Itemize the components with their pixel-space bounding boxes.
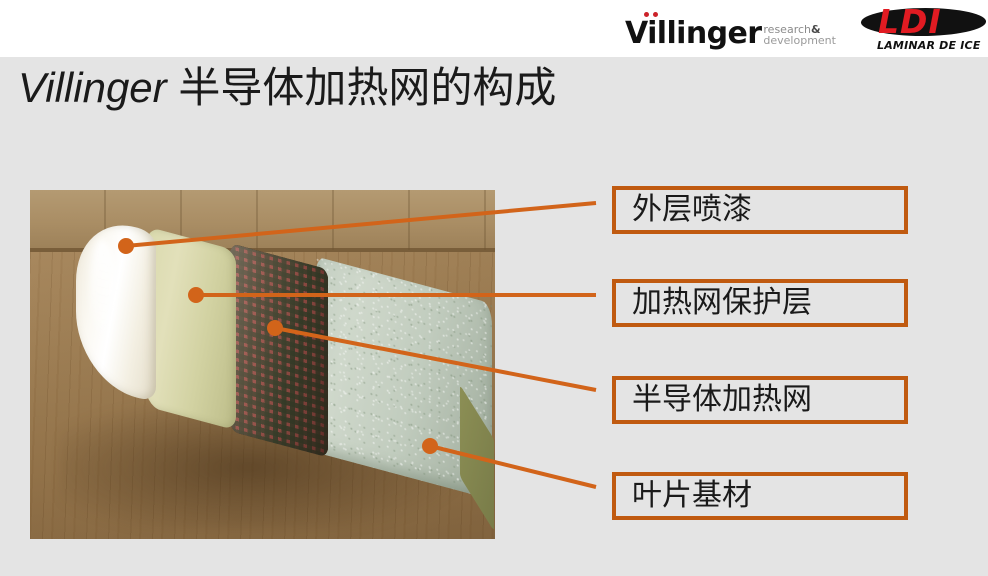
callout-label-substrate: 叶片基材 [632,481,752,511]
page-title-cjk: 半导体加热网的构成 [178,63,556,112]
villinger-tagline-line2: development [763,36,836,47]
callout-protection[interactable]: 加热网保护层 [612,279,908,327]
page-title: Villinger 半导体加热网的构成 [18,62,556,114]
ldi-logo: LDI LAMINAR DE ICE [861,3,986,55]
slide-canvas: Villinger research& development LDI LAMI… [0,0,988,576]
callout-heating-mesh[interactable]: 半导体加热网 [612,376,908,424]
callout-substrate[interactable]: 叶片基材 [612,472,908,520]
ldi-tagline: LAMINAR DE ICE [877,40,981,52]
layer-heating-mesh [228,243,328,458]
mesh-shading [228,243,328,458]
layer-outer-paint [76,211,156,402]
villinger-i-dot-2 [653,12,658,17]
villinger-tagline: research& development [763,25,836,46]
ldi-wordmark: LDI [878,5,942,38]
specimen-body [68,216,488,516]
callout-label-heating-mesh: 半导体加热网 [632,385,812,415]
villinger-wordmark: Villinger [625,19,761,49]
layer-protection [144,226,236,431]
callout-label-outer-paint: 外层喷漆 [632,195,752,225]
callout-outer-paint[interactable]: 外层喷漆 [612,186,908,234]
villinger-i-dot-1 [644,12,649,17]
slide-header-band [0,0,988,57]
page-title-latin: Villinger [18,64,167,111]
callout-label-protection: 加热网保护层 [632,288,812,318]
villinger-logo: Villinger research& development [625,9,836,49]
specimen-photo [30,190,495,539]
